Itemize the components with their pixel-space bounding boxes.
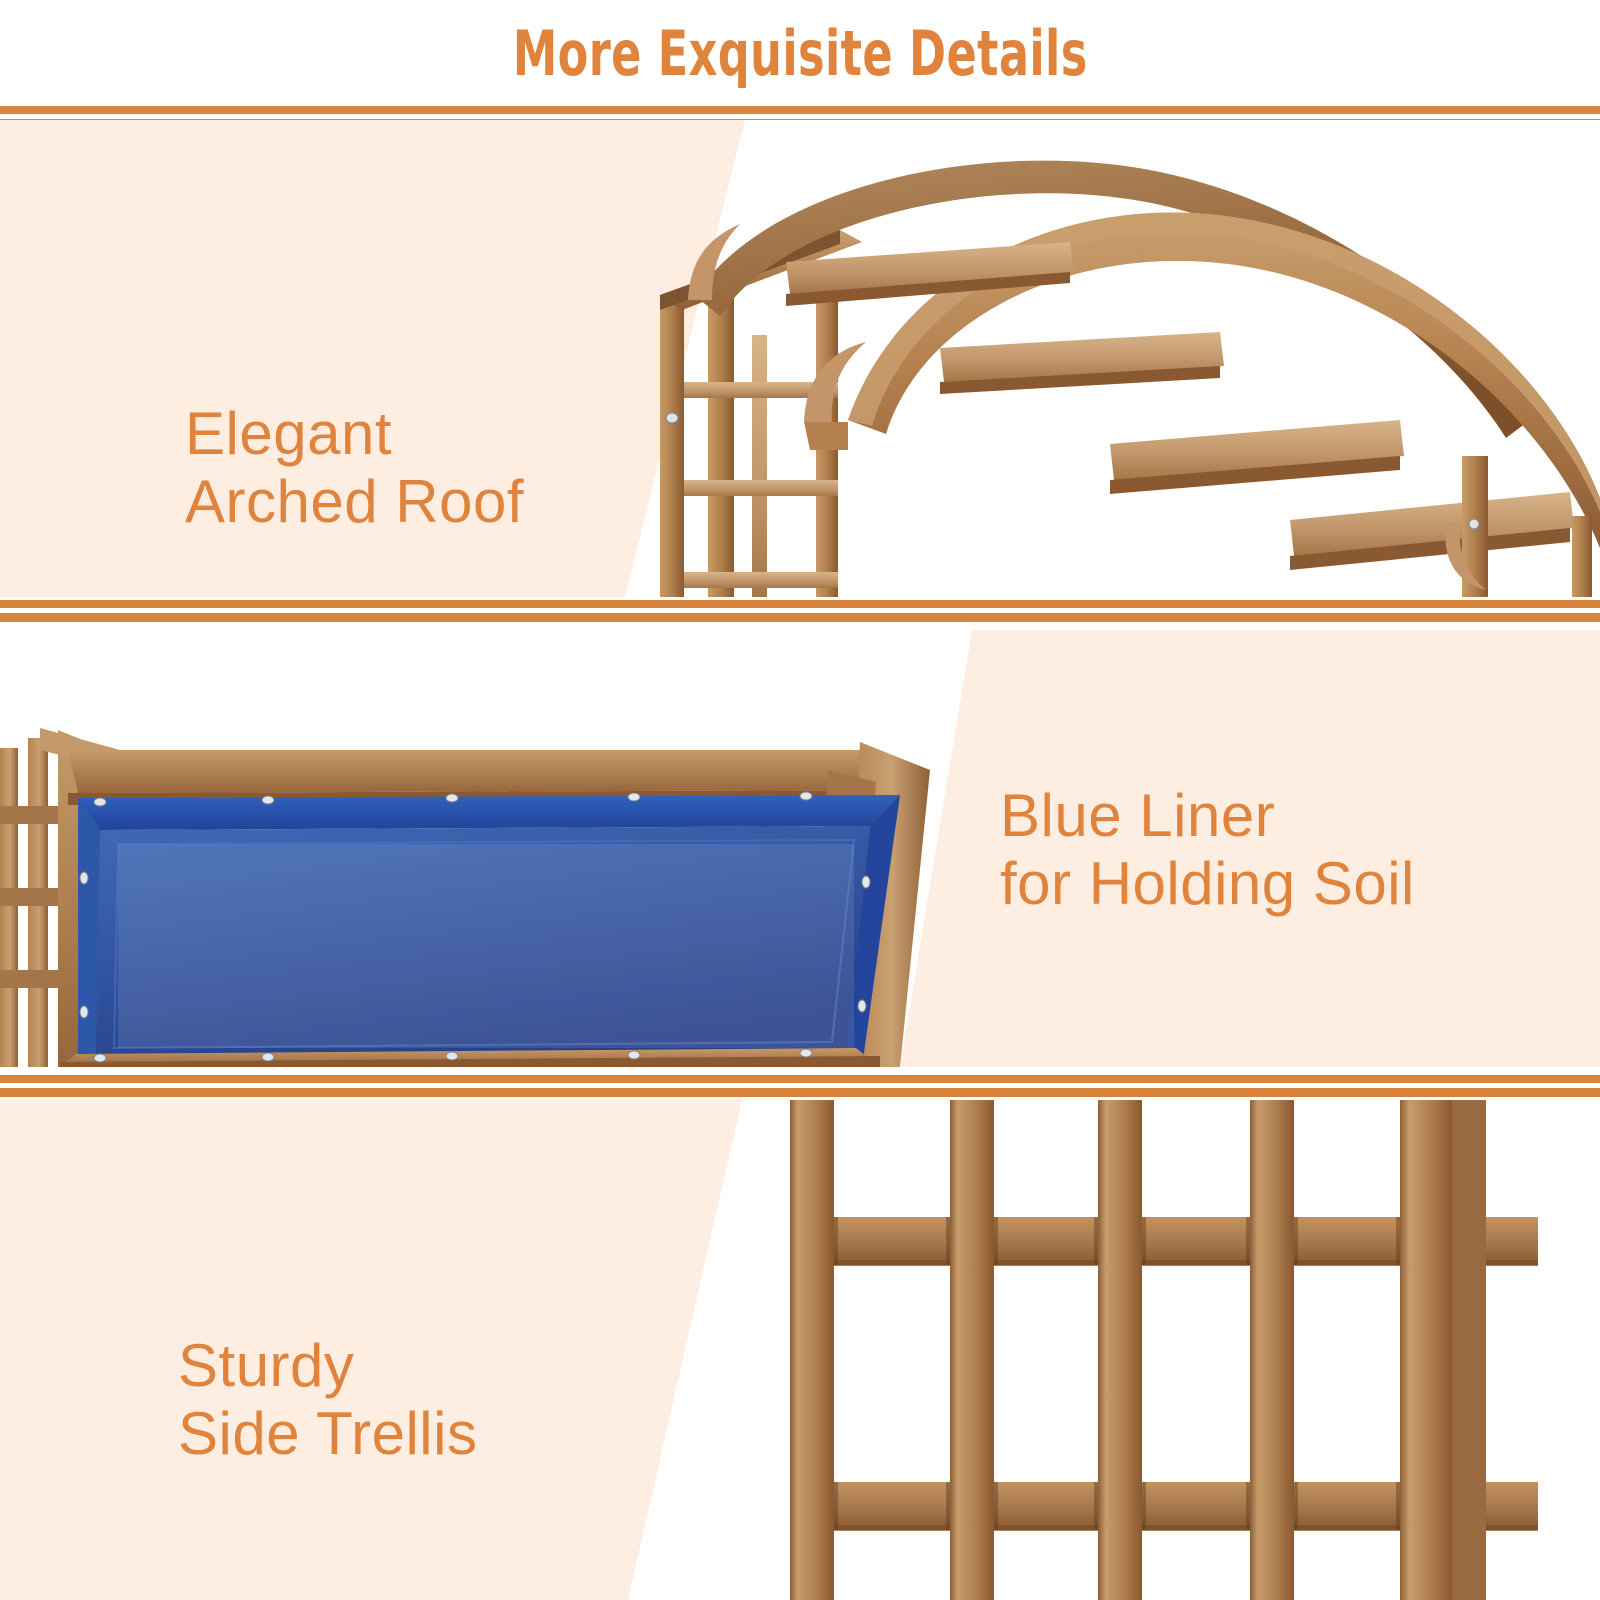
infographic-page: More Exquisite Details Elegant Arched Ro… <box>0 0 1600 1600</box>
trellis-slat <box>1250 1100 1294 1600</box>
panel-side-trellis: Sturdy Side Trellis <box>0 1100 1600 1600</box>
arched-roof-illustration <box>600 120 1600 597</box>
panel-blue-liner: Blue Liner for Holding Soil <box>0 630 1600 1067</box>
blue-liner-illustration <box>0 630 960 1067</box>
divider-bar-lower <box>0 613 1600 622</box>
trellis-slat <box>1098 1100 1142 1600</box>
divider-middle-1 <box>0 600 1600 622</box>
divider-bar-upper <box>0 600 1600 608</box>
panel2-label: Blue Liner for Holding Soil <box>1000 782 1415 919</box>
panel2-product-photo <box>0 630 960 1067</box>
panel-arched-roof: Elegant Arched Roof <box>0 120 1600 597</box>
panel3-product-photo <box>760 1100 1600 1600</box>
page-title: More Exquisite Details <box>513 17 1088 90</box>
side-trellis-illustration <box>760 1100 1600 1600</box>
trellis-slat <box>790 1100 834 1600</box>
trellis-frame-post <box>1452 1100 1486 1600</box>
panel1-label: Elegant Arched Roof <box>185 400 524 537</box>
trellis-slat <box>1400 1100 1452 1600</box>
trellis-slat <box>950 1100 994 1600</box>
divider-bar-upper <box>0 1075 1600 1083</box>
header-banner: More Exquisite Details <box>0 0 1600 106</box>
panel1-product-photo <box>600 120 1600 597</box>
divider-bar-upper <box>0 106 1600 114</box>
divider-bar-lower <box>0 1088 1600 1097</box>
panel3-label: Sturdy Side Trellis <box>178 1332 477 1469</box>
divider-middle-2 <box>0 1075 1600 1097</box>
